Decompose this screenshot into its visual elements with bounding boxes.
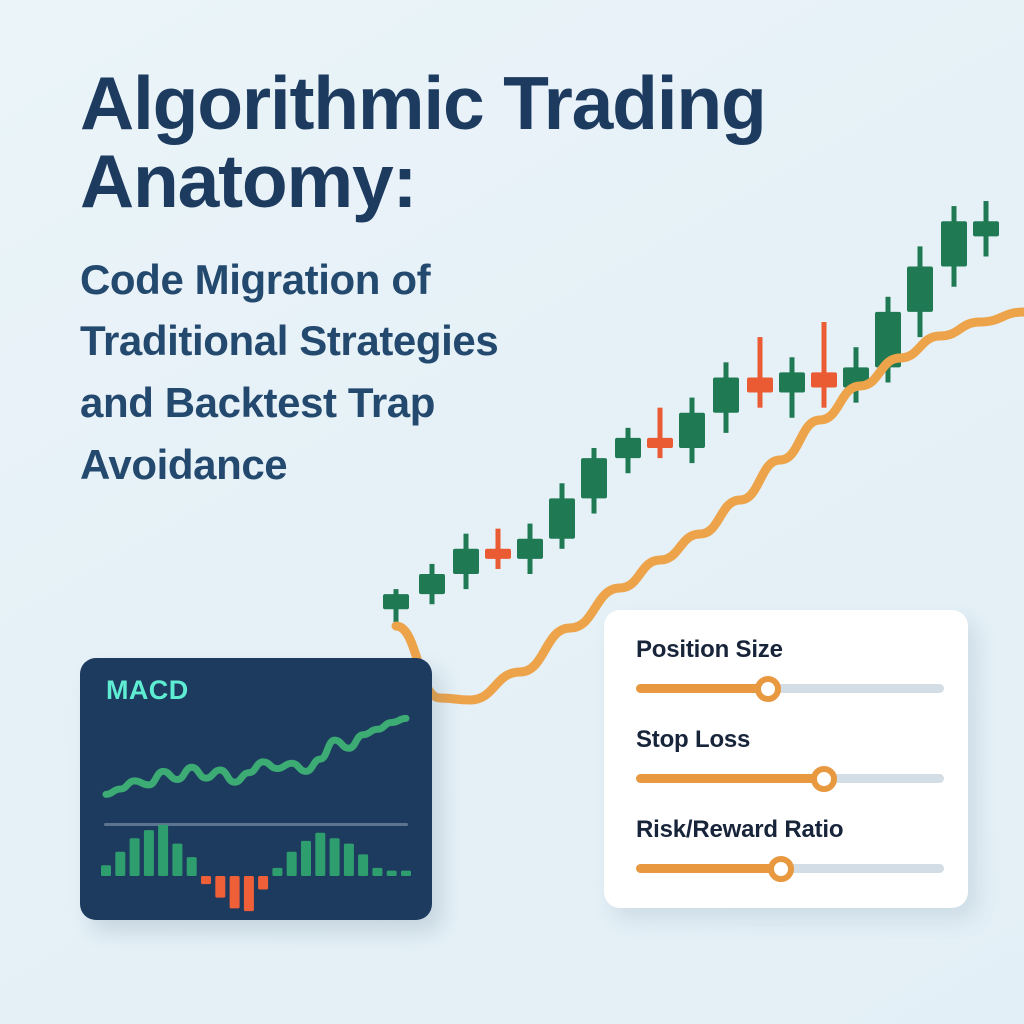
poster-canvas: Algorithmic Trading Anatomy: Code Migrat… [0, 0, 1024, 1024]
subtitle-line-4: Avoidance [80, 434, 910, 496]
macd-zero-line [104, 823, 408, 826]
candlestick-body [419, 574, 445, 594]
slider-row-risk-reward-ratio: Risk/Reward Ratio [636, 816, 944, 873]
candlestick-body [941, 221, 967, 266]
slider-track-stop-loss[interactable] [636, 774, 944, 783]
slider-fill-position-size [636, 684, 768, 693]
macd-histogram-bar-9 [230, 876, 240, 908]
candlestick-2 [453, 534, 479, 589]
macd-histogram-bar-10 [244, 876, 254, 911]
macd-histogram-bar-5 [172, 844, 182, 876]
macd-histogram-bar-19 [372, 868, 382, 876]
candlestick-body [549, 498, 575, 538]
candlestick-4 [517, 524, 543, 574]
macd-histogram-bar-14 [301, 841, 311, 876]
candlestick-18 [973, 201, 999, 256]
slider-row-stop-loss: Stop Loss [636, 726, 944, 783]
candlestick-body [517, 539, 543, 559]
headline-block: Algorithmic Trading Anatomy: Code Migrat… [80, 66, 910, 495]
macd-indicator-card[interactable]: MACD [80, 658, 432, 920]
slider-track-position-size[interactable] [636, 684, 944, 693]
macd-histogram-bar-18 [358, 854, 368, 876]
macd-histogram-bar-13 [287, 852, 297, 876]
slider-thumb-icon-stop-loss[interactable] [811, 766, 837, 792]
page-title-line-2: Anatomy: [80, 144, 910, 218]
macd-line [106, 718, 406, 794]
macd-histogram-bar-15 [315, 833, 325, 876]
risk-settings-panel: Position Size Stop Loss Risk/Reward Rati… [604, 610, 968, 908]
slider-thumb-icon-position-size[interactable] [755, 676, 781, 702]
slider-row-position-size: Position Size [636, 636, 944, 693]
macd-histogram-bar-16 [330, 838, 340, 876]
macd-histogram-bar-4 [158, 825, 168, 876]
macd-histogram-bar-1 [115, 852, 125, 876]
macd-label: MACD [106, 675, 189, 706]
slider-label-stop-loss: Stop Loss [636, 726, 944, 754]
slider-label-risk-reward-ratio: Risk/Reward Ratio [636, 816, 944, 844]
slider-label-position-size: Position Size [636, 636, 944, 664]
candlestick-body [485, 549, 511, 559]
candlestick-body [383, 594, 409, 609]
page-subtitle: Code Migration of Traditional Strategies… [80, 249, 910, 496]
slider-track-risk-reward-ratio[interactable] [636, 864, 944, 873]
candlestick-1 [419, 564, 445, 604]
slider-thumb-icon-risk-reward-ratio[interactable] [768, 856, 794, 882]
macd-histogram-bar-12 [272, 868, 282, 876]
candlestick-3 [485, 529, 511, 569]
macd-histogram-bar-21 [401, 871, 411, 876]
macd-histogram-bar-17 [344, 844, 354, 876]
subtitle-line-1: Code Migration of [80, 249, 910, 311]
macd-histogram-bar-2 [130, 838, 140, 876]
macd-histogram-bar-6 [187, 857, 197, 876]
subtitle-line-3: and Backtest Trap [80, 372, 910, 434]
candlestick-16 [907, 246, 933, 337]
page-title-line-1: Algorithmic Trading [80, 66, 910, 140]
candlestick-body [973, 221, 999, 236]
macd-histogram-bar-7 [201, 876, 211, 884]
subtitle-line-2: Traditional Strategies [80, 310, 910, 372]
macd-histogram-bar-20 [387, 871, 397, 876]
macd-histogram-bar-3 [144, 830, 154, 876]
candlestick-17 [941, 206, 967, 287]
macd-histogram-bar-11 [258, 876, 268, 890]
candlestick-body [453, 549, 479, 574]
slider-fill-risk-reward-ratio [636, 864, 781, 873]
candlestick-body [907, 267, 933, 312]
slider-fill-stop-loss [636, 774, 824, 783]
macd-histogram-bar-0 [101, 865, 111, 876]
macd-histogram-bar-8 [215, 876, 225, 898]
